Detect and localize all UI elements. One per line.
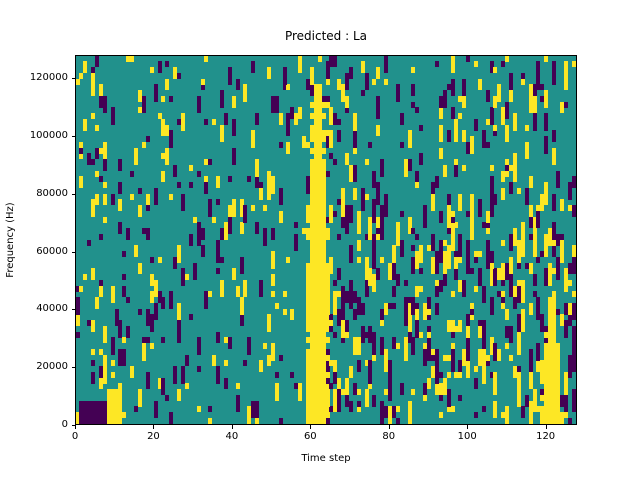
heatmap-image [76,56,576,424]
x-tick-mark [389,425,390,429]
x-tick-mark [232,425,233,429]
x-tick-label: 0 [72,431,78,443]
y-tick-mark [72,252,76,253]
y-tick-mark [72,367,76,368]
x-tick-mark [310,425,311,429]
y-tick-mark [72,425,76,426]
y-tick-label: 120000 [30,72,68,84]
x-tick-mark [546,425,547,429]
x-tick-label: 100 [458,431,477,443]
matplotlib-figure: Predicted : La 0204060801001200200004000… [0,0,640,480]
x-axis-label: Time step [75,453,577,465]
y-tick-label: 20000 [36,361,68,373]
x-tick-mark [153,425,154,429]
x-tick-label: 120 [536,431,555,443]
chart-title: Predicted : La [75,29,577,43]
x-tick-label: 20 [147,431,160,443]
y-tick-mark [72,194,76,195]
y-tick-mark [72,136,76,137]
x-tick-mark [75,425,76,429]
y-tick-label: 100000 [30,130,68,142]
x-tick-label: 60 [304,431,317,443]
heatmap-axes [75,55,577,425]
y-tick-mark [72,78,76,79]
x-tick-mark [467,425,468,429]
y-axis-label: Frequency (Hz) [5,202,17,277]
y-tick-mark [72,309,76,310]
y-tick-label: 60000 [36,246,68,258]
y-tick-label: 0 [62,419,68,431]
x-tick-label: 80 [382,431,395,443]
y-tick-label: 40000 [36,303,68,315]
y-tick-label: 80000 [36,188,68,200]
x-tick-label: 40 [226,431,239,443]
